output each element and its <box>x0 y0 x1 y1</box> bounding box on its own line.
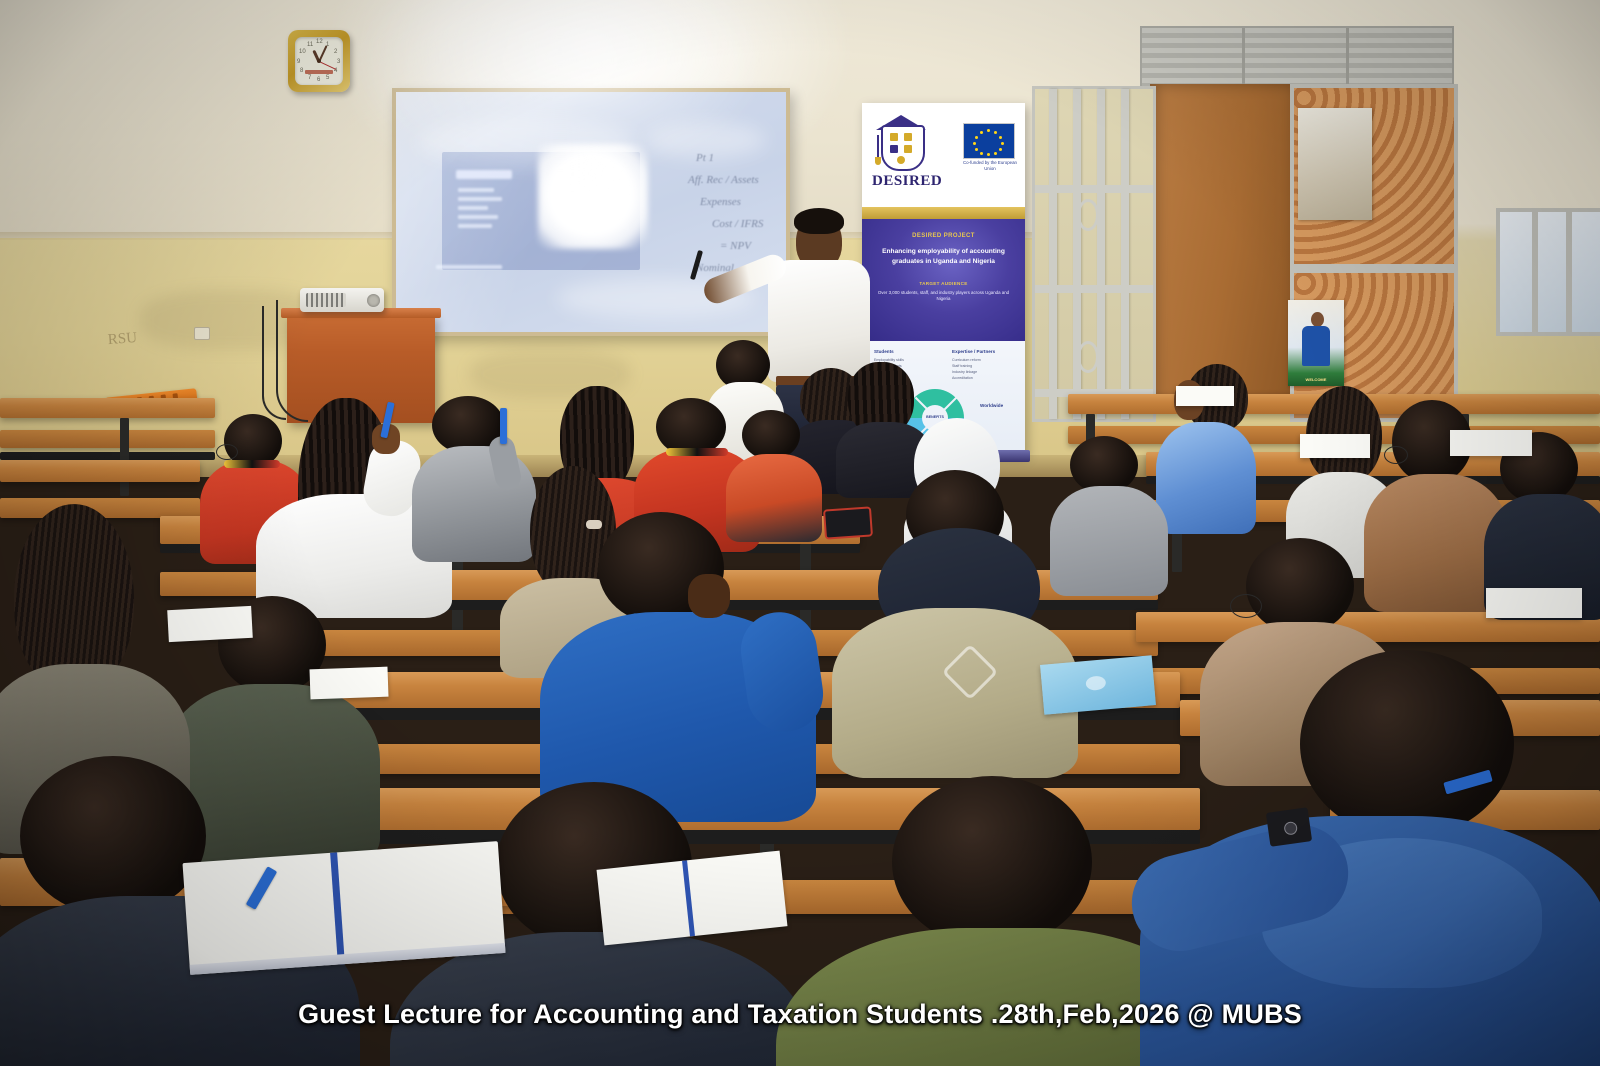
eu-funding-caption: Co-funded by the European Union <box>961 160 1019 172</box>
banner-col-bullets: Industry linkage <box>952 370 1014 375</box>
notebook <box>1486 588 1582 618</box>
student <box>846 470 1076 760</box>
door-lintel-vent <box>1140 26 1454 88</box>
shirt-collar-stripe <box>666 448 728 456</box>
notebook-spine <box>330 852 345 964</box>
student-torso <box>832 608 1078 778</box>
wall-socket <box>194 327 210 340</box>
banner-brand: DESIRED <box>872 173 972 190</box>
smartphone <box>823 506 873 539</box>
folder-clip <box>1085 675 1106 691</box>
wall-clock-icon: 12 1 2 3 4 5 6 7 8 9 10 11 <box>288 30 350 92</box>
slide-title-bar <box>456 170 512 179</box>
board-handwriting: Aff. Rec / Assets <box>688 174 759 186</box>
banner-header: DESIRED Co-funded by the Euro <box>862 103 1025 211</box>
banner-col-bullets: Staff training <box>952 364 1014 369</box>
projector-vent <box>306 293 346 307</box>
clock-face: 12 1 2 3 4 5 6 7 8 9 10 11 <box>295 37 343 85</box>
glasses-icon <box>1384 446 1408 464</box>
wall-graffiti: RSU <box>107 328 168 354</box>
desk-rail <box>0 452 215 460</box>
wristwatch-icon <box>1266 807 1312 847</box>
open-notebook <box>182 841 505 975</box>
notebook <box>1176 386 1234 406</box>
projector-lens <box>367 294 380 307</box>
side-window <box>1496 208 1600 336</box>
student <box>556 512 826 812</box>
banner-project-heading: DESIRED PROJECT <box>862 233 1025 239</box>
poster-caption: WELCOME <box>1292 377 1340 382</box>
student-torso <box>1050 486 1168 596</box>
banner-tagline: Enhancing employability of accounting gr… <box>872 247 1015 266</box>
banner-wheel-footer: Worldwide <box>980 403 1003 408</box>
bench <box>0 430 215 448</box>
banner-audience-heading: TARGET AUDIENCE <box>862 281 1025 286</box>
student-hair <box>1300 650 1514 838</box>
board-handwriting: Expenses <box>700 196 741 208</box>
notebook <box>167 606 253 642</box>
student <box>1494 432 1600 612</box>
student-hair <box>892 776 1092 948</box>
student-hair <box>742 410 800 460</box>
board-handwriting: Pt 1 <box>696 152 714 164</box>
glasses-icon <box>216 444 238 460</box>
notebook <box>1450 430 1532 456</box>
student-hand <box>688 574 730 618</box>
banner-col-bullets: Curriculum reform <box>952 358 1014 363</box>
student-hair <box>20 756 206 916</box>
desk-leg <box>120 418 129 496</box>
banner-body: DESIRED PROJECT Enhancing employability … <box>862 219 1025 343</box>
desired-logo-icon <box>875 113 927 171</box>
notebook <box>1300 434 1370 458</box>
student-torso <box>1156 422 1256 534</box>
welcome-poster: WELCOME <box>1288 300 1344 386</box>
banner-audience-text: Over 3,000 students, staff, and industry… <box>872 290 1015 303</box>
desk <box>0 460 200 482</box>
wall-poster <box>1298 108 1372 220</box>
student-hair <box>1246 538 1354 634</box>
notebook-spine <box>682 860 695 936</box>
classroom-photo: RSU 12 1 2 3 4 5 6 7 8 9 10 11 <box>0 0 1600 1066</box>
student <box>1150 650 1590 1066</box>
blue-folder <box>1040 655 1156 715</box>
doorway[interactable] <box>1150 84 1290 404</box>
banner-col-heading: Expertise / Partners <box>952 349 995 354</box>
notebook <box>310 667 389 700</box>
student <box>1056 436 1162 586</box>
projector <box>300 288 384 312</box>
security-grille <box>1032 86 1156 422</box>
eu-flag-icon <box>963 123 1015 159</box>
desk <box>0 398 215 418</box>
projector-hotspot <box>538 144 648 249</box>
banner-col-bullets: Accreditation <box>952 376 1014 381</box>
lecturer-hair <box>794 208 844 234</box>
glasses-icon <box>1230 594 1262 618</box>
blue-pen <box>500 408 507 444</box>
